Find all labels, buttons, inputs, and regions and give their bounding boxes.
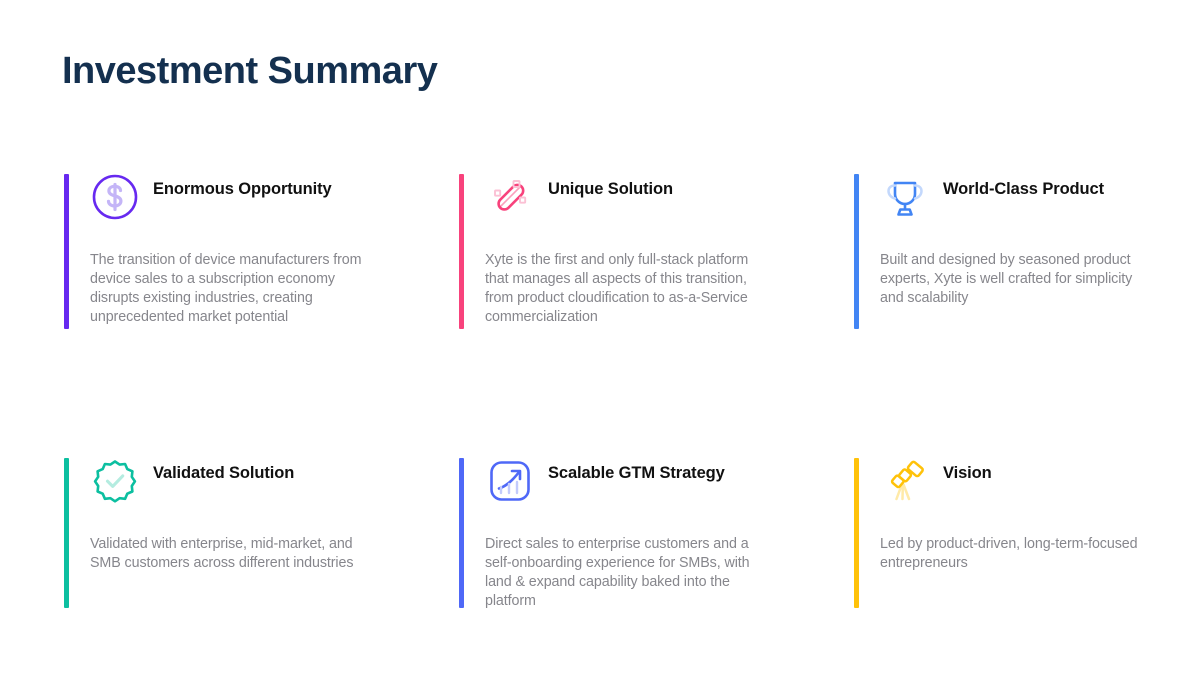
card-header: Unique Solution bbox=[485, 172, 854, 228]
card-header: World-Class Product bbox=[880, 172, 1144, 228]
accent-bar-pink bbox=[459, 174, 464, 329]
card-header: Enormous Opportunity bbox=[90, 172, 459, 228]
page-title: Investment Summary bbox=[62, 50, 437, 93]
summary-card-grid: Enormous Opportunity The transition of d… bbox=[64, 172, 1144, 610]
card-world-class-product: World-Class Product Built and designed b… bbox=[854, 172, 1144, 394]
card-title: Enormous Opportunity bbox=[153, 172, 332, 201]
card-description: Led by product-driven, long-term-focused… bbox=[880, 535, 1144, 573]
card-description: Xyte is the first and only full-stack pl… bbox=[485, 251, 753, 326]
card-title: Validated Solution bbox=[153, 456, 294, 485]
card-description: The transition of device manufacturers f… bbox=[90, 251, 365, 326]
card-title: Scalable GTM Strategy bbox=[548, 456, 725, 485]
card-title: Vision bbox=[943, 456, 992, 485]
card-header: Validated Solution bbox=[90, 456, 459, 512]
card-title: Unique Solution bbox=[548, 172, 673, 201]
verified-badge-icon bbox=[90, 456, 140, 506]
accent-bar-indigo bbox=[459, 458, 464, 608]
card-description: Validated with enterprise, mid-market, a… bbox=[90, 535, 365, 573]
dollar-circle-icon bbox=[90, 172, 140, 222]
card-header: Scalable GTM Strategy bbox=[485, 456, 854, 512]
accent-bar-blue bbox=[854, 174, 859, 329]
card-scalable-gtm-strategy: Scalable GTM Strategy Direct sales to en… bbox=[459, 456, 854, 610]
telescope-icon bbox=[880, 456, 930, 506]
card-validated-solution: Validated Solution Validated with enterp… bbox=[64, 456, 459, 610]
accent-bar-yellow bbox=[854, 458, 859, 608]
card-description: Built and designed by seasoned product e… bbox=[880, 251, 1144, 308]
card-header: Vision bbox=[880, 456, 1144, 512]
card-description: Direct sales to enterprise customers and… bbox=[485, 535, 753, 610]
growth-chart-icon bbox=[485, 456, 535, 506]
accent-bar-purple bbox=[64, 174, 69, 329]
trophy-icon bbox=[880, 172, 930, 222]
card-unique-solution: Unique Solution Xyte is the first and on… bbox=[459, 172, 854, 394]
card-title: World-Class Product bbox=[943, 172, 1104, 201]
accent-bar-teal bbox=[64, 458, 69, 608]
slide-canvas: Investment Summary Enormous Opportunity … bbox=[0, 0, 1200, 676]
card-vision: Vision Led by product-driven, long-term-… bbox=[854, 456, 1144, 610]
magic-wand-icon bbox=[485, 172, 535, 222]
card-enormous-opportunity: Enormous Opportunity The transition of d… bbox=[64, 172, 459, 394]
